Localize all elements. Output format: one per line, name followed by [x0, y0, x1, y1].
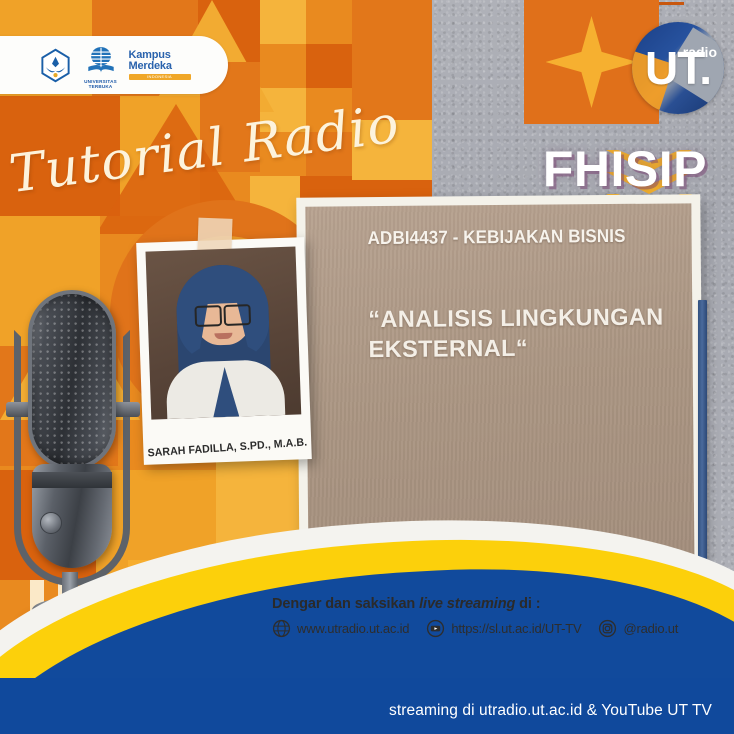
link-website[interactable]: www.utradio.ut.ac.id	[272, 619, 409, 638]
pencil-icon	[698, 300, 707, 570]
bottom-bar-text: streaming di utradio.ut.ac.id & YouTube …	[389, 702, 712, 720]
link-instagram[interactable]: @radio.ut	[598, 619, 678, 638]
footer-headline-a: Dengar dan saksikan	[272, 596, 419, 612]
instagram-icon	[598, 619, 617, 638]
footer-links: Dengar dan saksikan live streaming di : …	[272, 596, 734, 638]
kampus-merdeka-line2: Merdeka	[129, 61, 191, 72]
speaker-photo-card: SARAH FADILLA, S.PD., M.A.B.	[136, 237, 312, 465]
poster-canvas: UNIVERSITAS TERBUKA Kampus Merdeka INDON…	[0, 0, 734, 734]
faculty-label: FHISIP	[543, 140, 707, 198]
glasses-icon	[194, 304, 251, 323]
kemendikbud-logo-icon	[38, 48, 73, 83]
institution-logos-bar: UNIVERSITAS TERBUKA Kampus Merdeka INDON…	[0, 36, 228, 94]
ut-logo-caption: UNIVERSITAS TERBUKA	[84, 79, 118, 89]
link-youtube-text: https://sl.ut.ac.id/UT-TV	[451, 621, 581, 636]
speaker-name: SARAH FADILLA, S.PD., M.A.B.	[147, 436, 309, 459]
youtube-icon	[426, 619, 445, 638]
course-title: “ANALISIS LINGKUNGAN EKSTERNAL“	[368, 301, 677, 364]
universitas-terbuka-logo-icon: UNIVERSITAS TERBUKA	[84, 45, 118, 85]
course-code: ADBI4437 - KEBIJAKAN BISNIS	[368, 225, 626, 249]
link-instagram-text: @radio.ut	[623, 621, 678, 636]
footer-headline-c: di :	[515, 596, 540, 612]
kampus-merdeka-logo: Kampus Merdeka INDONESIA	[129, 48, 191, 82]
link-youtube[interactable]: https://sl.ut.ac.id/UT-TV	[426, 619, 581, 638]
tape-icon	[197, 218, 232, 253]
footer-headline: Dengar dan saksikan live streaming di :	[272, 596, 734, 612]
ut-radio-logo: UT. radio	[632, 22, 724, 114]
link-website-text: www.utradio.ut.ac.id	[297, 621, 409, 636]
ut-radio-logo-sub: radio	[683, 44, 717, 60]
footer-headline-b: live streaming	[419, 596, 515, 612]
kampus-merdeka-tagline: INDONESIA	[129, 74, 191, 80]
globe-icon	[272, 619, 291, 638]
speaker-photo	[145, 246, 301, 419]
four-point-star-icon	[546, 16, 638, 108]
